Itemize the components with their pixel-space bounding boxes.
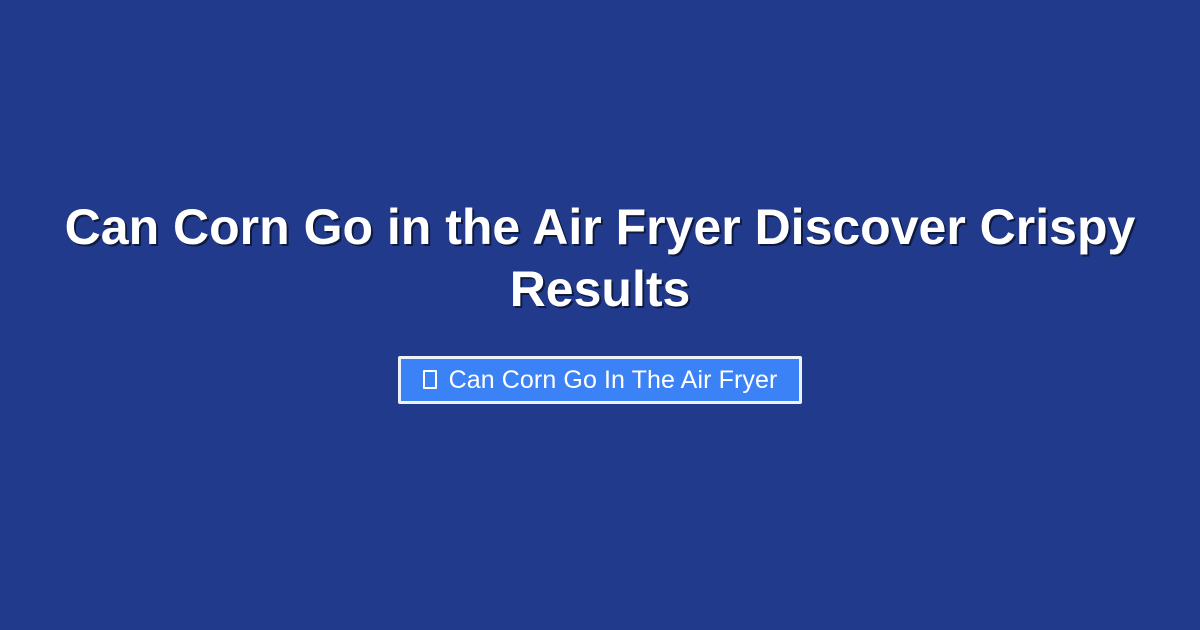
cta-container: Can Corn Go In The Air Fryer <box>0 356 1200 404</box>
cta-button[interactable]: Can Corn Go In The Air Fryer <box>398 356 803 404</box>
missing-glyph-tofu-box-icon <box>423 370 437 389</box>
og-image-card: Can Corn Go in the Air Fryer Discover Cr… <box>0 0 1200 630</box>
card-content: Can Corn Go in the Air Fryer Discover Cr… <box>0 0 1200 630</box>
cta-button-label: Can Corn Go In The Air Fryer <box>449 368 778 393</box>
page-title: Can Corn Go in the Air Fryer Discover Cr… <box>60 196 1140 320</box>
